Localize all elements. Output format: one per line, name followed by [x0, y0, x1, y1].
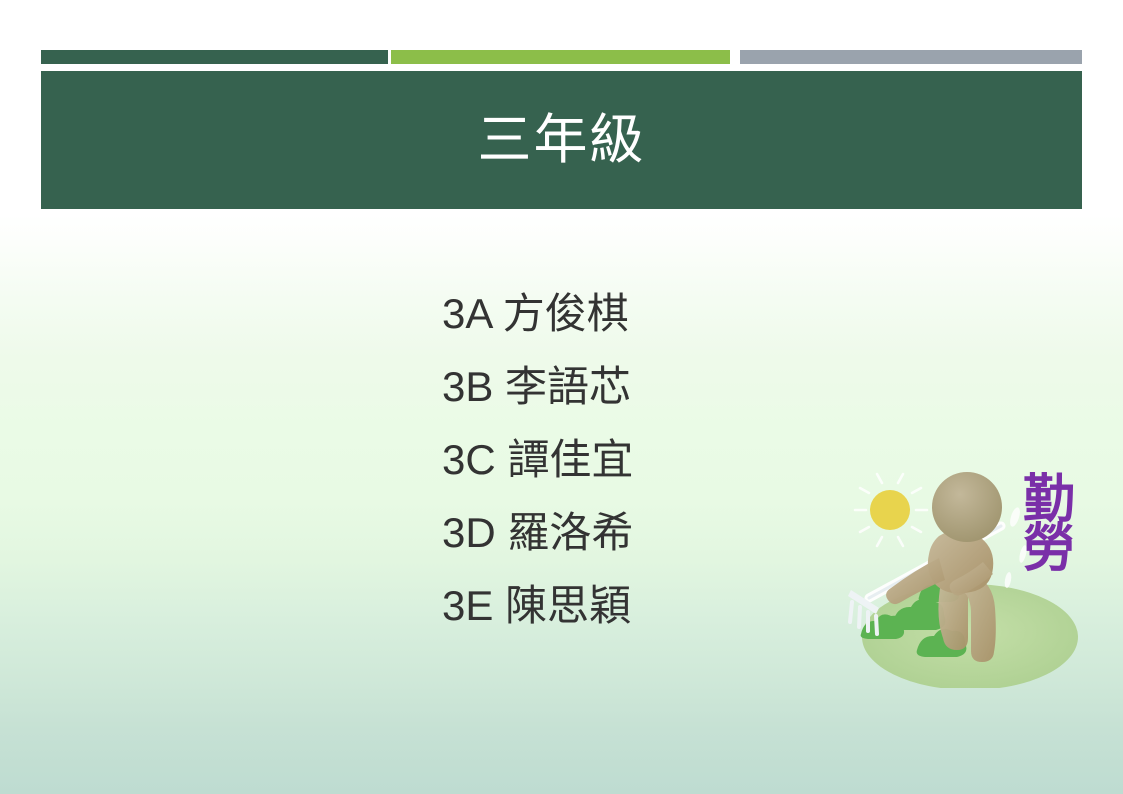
decorative-top-bars [0, 50, 1123, 64]
virtue-char-top: 勤 [1012, 476, 1086, 525]
virtue-char-bottom: 勞 [1012, 525, 1086, 574]
slide: 三年級 3A 方俊棋 3B 李語芯 3C 譚佳宜 3D 羅洛希 3E 陳思穎 [0, 0, 1123, 794]
page-title: 三年級 [478, 113, 646, 167]
list-item: 3E 陳思穎 [442, 585, 862, 658]
title-band: 三年級 [41, 71, 1082, 209]
figure-head [932, 472, 1002, 542]
list-item: 3C 譚佳宜 [442, 439, 862, 512]
virtue-characters: 勤 勞 [1012, 476, 1086, 608]
list-item: 3D 羅洛希 [442, 512, 862, 585]
student-name-list: 3A 方俊棋 3B 李語芯 3C 譚佳宜 3D 羅洛希 3E 陳思穎 [442, 293, 862, 658]
list-item: 3A 方俊棋 [442, 293, 862, 366]
sun-icon [870, 490, 910, 530]
list-item: 3B 李語芯 [442, 366, 862, 439]
bar-light-green [391, 50, 730, 64]
bar-gray [740, 50, 1082, 64]
bar-dark-green [41, 50, 388, 64]
